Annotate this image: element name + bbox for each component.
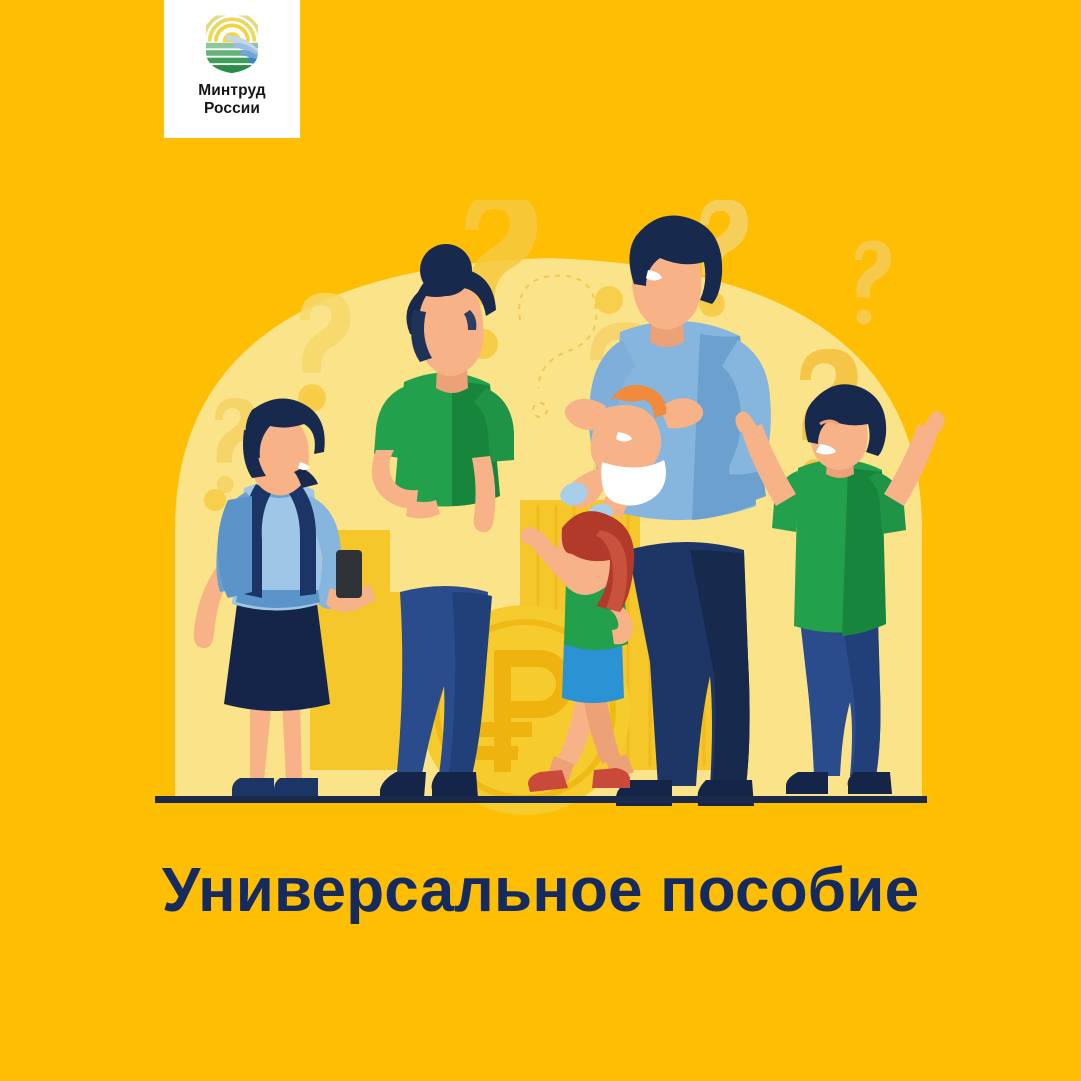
poster-root: Минтруд России	[0, 0, 1081, 1081]
mintrud-logo-card: Минтруд России	[164, 0, 300, 138]
page-title: Универсальное пособие	[0, 855, 1081, 926]
family-with-children-illustration	[0, 200, 1081, 820]
mintrud-logo-text: Минтруд России	[198, 82, 265, 118]
sun-field-water-emblem-icon	[201, 13, 263, 75]
logo-line-2: России	[198, 100, 265, 118]
logo-line-1: Минтруд	[198, 82, 265, 100]
ground-line	[155, 796, 927, 803]
